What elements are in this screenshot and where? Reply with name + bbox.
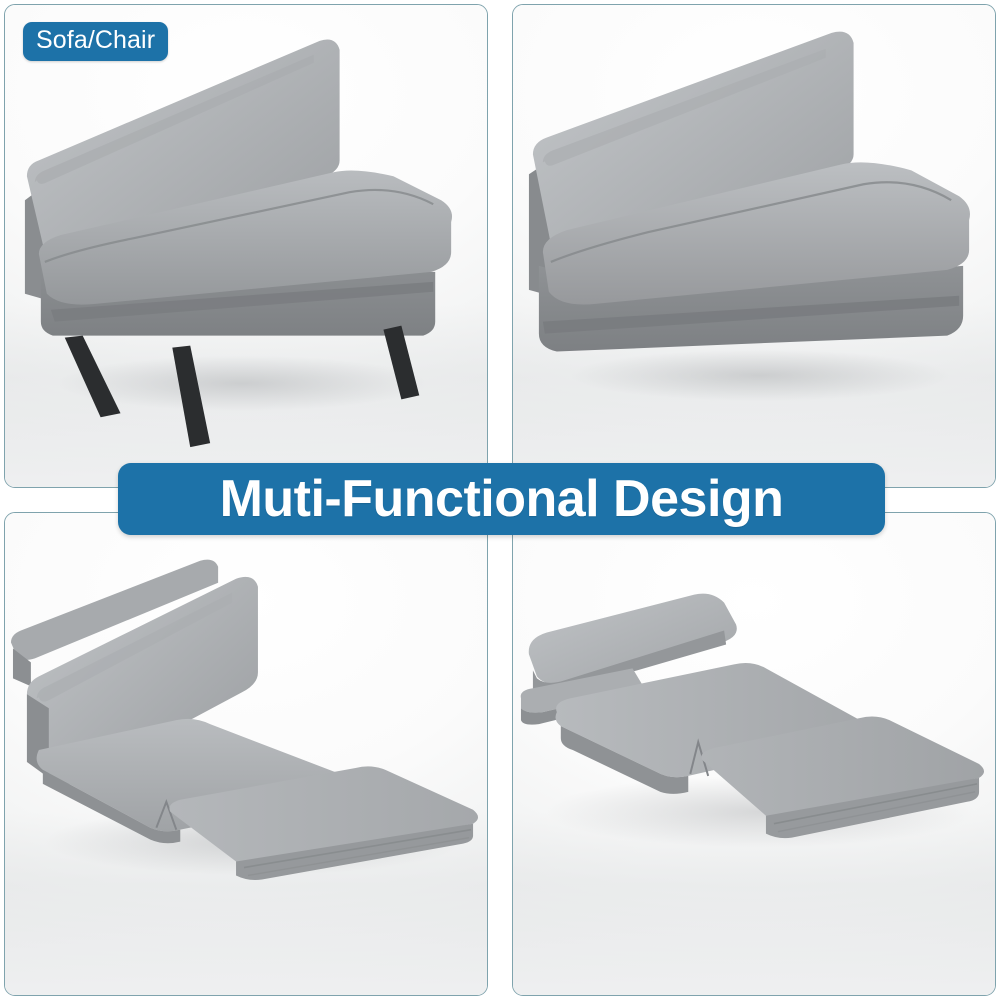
panel-floor-sofa-couch: Floor Sofa Couch: [512, 4, 996, 488]
multi-functional-design-banner: Muti-Functional Design: [118, 463, 885, 535]
panel-bed: Bed: [512, 512, 996, 996]
lounger-illustration: [5, 513, 487, 995]
panel-lounger: Lounger: [4, 512, 488, 996]
bed-illustration: [513, 513, 995, 995]
badge-sofa-chair: Sofa/Chair: [23, 22, 168, 61]
product-infographic: Sofa/Chair: [0, 0, 1000, 1000]
floor-sofa-couch-illustration: [513, 5, 995, 487]
sofa-chair-illustration: [5, 5, 487, 487]
panel-sofa-chair: Sofa/Chair: [4, 4, 488, 488]
banner-title: Muti-Functional Design: [220, 473, 784, 525]
